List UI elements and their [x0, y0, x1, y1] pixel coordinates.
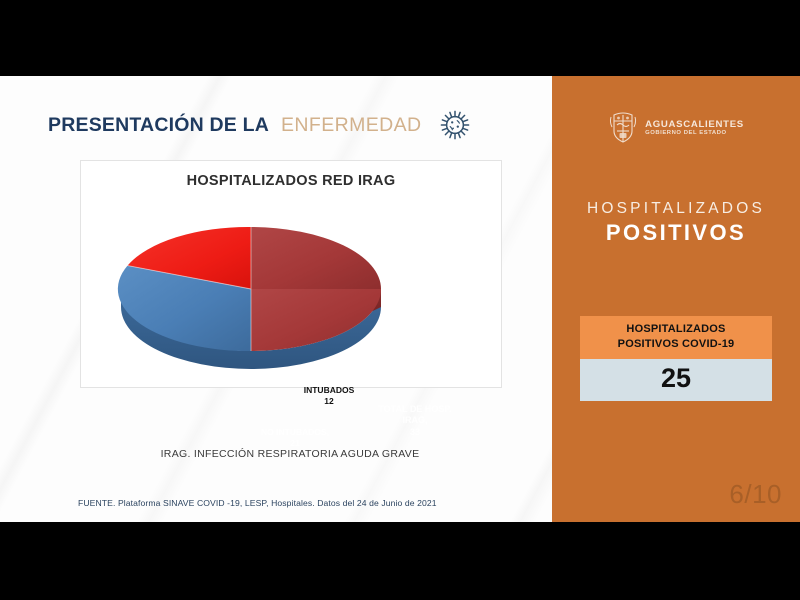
gov-logo-text: AGUASCALIENTES GOBIERNO DEL ESTADO	[645, 120, 744, 136]
chart-card: HOSPITALIZADOS RED IRAG	[80, 160, 502, 388]
stat-box: HOSPITALIZADOS POSITIVOS COVID-19 25	[580, 316, 772, 401]
page-title-light: ENFERMEDAD	[281, 114, 422, 137]
panel-heading-line2: POSITIVOS	[552, 220, 800, 246]
pie-slice-total-hosp-upper	[251, 227, 381, 289]
source-note: FUENTE. Plataforma SINAVE COVID -19, LES…	[78, 498, 518, 508]
gov-logo-name: AGUASCALIENTES	[645, 120, 744, 130]
screenshot-root: PRESENTACIÓN DE LA ENFERMEDAD	[0, 0, 800, 600]
pie-slice-total-hosp-lower	[251, 289, 381, 351]
irag-legend-note: IRAG. INFECCIÓN RESPIRATORIA AGUDA GRAVE	[80, 448, 500, 460]
stat-box-value: 25	[580, 359, 772, 401]
pie-chart	[81, 201, 501, 381]
stat-box-header-line1: HOSPITALIZADOS	[584, 322, 768, 337]
stat-box-header: HOSPITALIZADOS POSITIVOS COVID-19	[580, 316, 772, 359]
page-title-strong: PRESENTACIÓN DE LA	[48, 114, 269, 137]
stat-box-header-line2: POSITIVOS COVID-19	[584, 337, 768, 352]
page-number: 6/10	[729, 479, 782, 510]
aguascalientes-coat-of-arms-icon	[608, 108, 638, 149]
gov-logo: AGUASCALIENTES GOBIERNO DEL ESTADO	[552, 108, 800, 149]
gov-logo-subtitle: GOBIERNO DEL ESTADO	[645, 130, 744, 136]
side-panel: AGUASCALIENTES GOBIERNO DEL ESTADO HOSPI…	[552, 76, 800, 522]
chart-title: HOSPITALIZADOS RED IRAG	[81, 173, 501, 189]
panel-heading: HOSPITALIZADOS POSITIVOS	[552, 200, 800, 246]
panel-heading-line1: HOSPITALIZADOS	[552, 200, 800, 218]
virus-icon	[434, 108, 472, 142]
page-title: PRESENTACIÓN DE LA ENFERMEDAD	[48, 108, 472, 142]
